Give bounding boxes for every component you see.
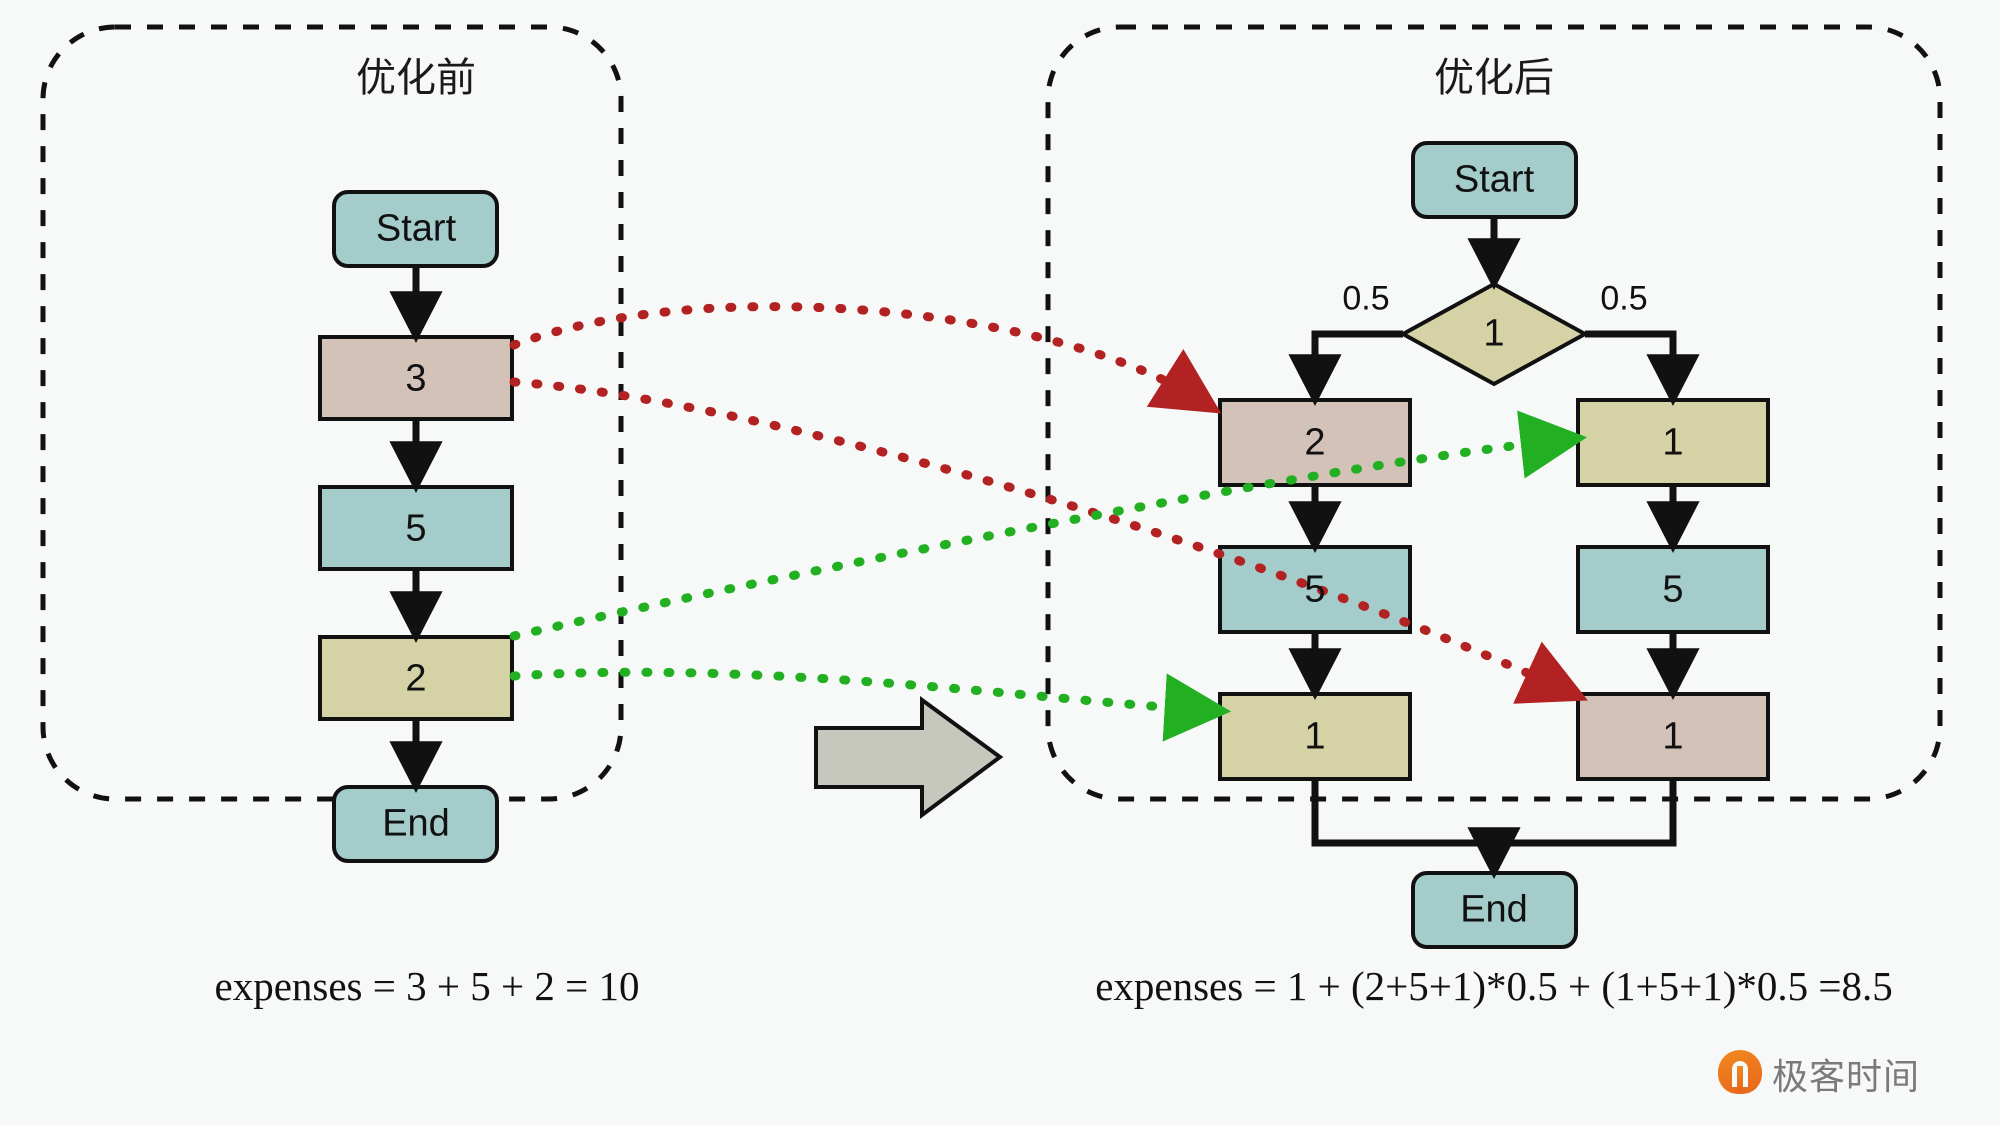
after-node-start[interactable] — [1413, 143, 1576, 217]
geekbang-logo-icon — [1718, 1050, 1762, 1098]
transform-arrow-icon — [816, 700, 1000, 815]
formula-after: expenses = 1 + (2+5+1)*0.5 + (1+5+1)*0.5… — [1095, 962, 1893, 1010]
diagram-svg — [0, 0, 2000, 1125]
before-node-cost-2[interactable] — [320, 637, 512, 719]
after-edge-right-1-to-end — [1494, 779, 1673, 843]
diagram-canvas: 优化前 优化后 Start 3 5 2 End Start 1 2 1 5 5 … — [0, 0, 2000, 1125]
watermark-text: 极客时间 — [1772, 1048, 1920, 1100]
panel-before-title: 优化前 — [356, 45, 476, 103]
panel-after-title: 优化后 — [1434, 45, 1554, 103]
after-node-right-cost-5[interactable] — [1578, 547, 1768, 632]
mapping-edge-3-to-2 — [514, 307, 1200, 400]
before-node-cost-3[interactable] — [320, 337, 512, 419]
after-node-left-cost-1[interactable] — [1220, 694, 1410, 779]
branch-prob-left-label: 0.5 — [1342, 280, 1389, 319]
after-node-decision[interactable] — [1403, 284, 1585, 384]
before-node-cost-5[interactable] — [320, 487, 512, 569]
after-node-left-cost-5[interactable] — [1220, 547, 1410, 632]
after-edge-decision-left — [1315, 334, 1403, 392]
formula-before: expenses = 3 + 5 + 2 = 10 — [215, 962, 640, 1010]
after-node-right-cost-1[interactable] — [1578, 400, 1768, 485]
after-edge-left-1-to-end — [1315, 779, 1494, 865]
mapping-edge-2-to-1l — [514, 672, 1206, 710]
branch-prob-right-label: 0.5 — [1600, 280, 1647, 319]
watermark: 极客时间 — [1718, 1048, 1920, 1100]
before-node-start[interactable] — [334, 192, 497, 266]
after-node-end[interactable] — [1413, 873, 1576, 947]
after-node-right-cost-1b[interactable] — [1578, 694, 1768, 779]
before-node-end[interactable] — [334, 787, 497, 861]
after-edge-decision-right — [1585, 334, 1673, 392]
